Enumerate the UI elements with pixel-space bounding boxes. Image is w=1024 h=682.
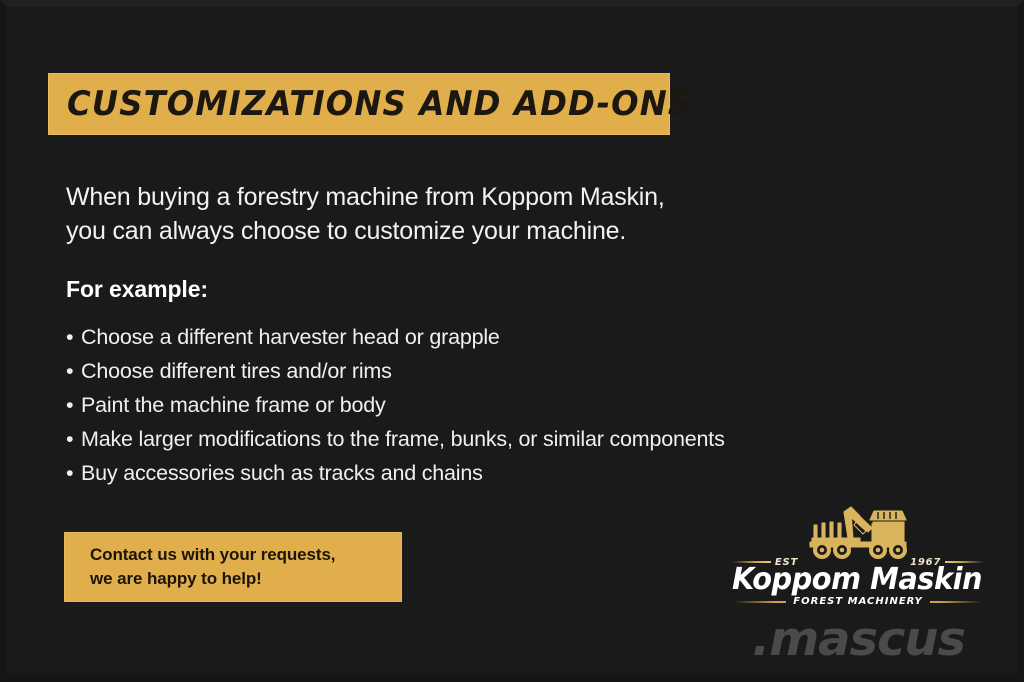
cta-line-2: we are happy to help!: [90, 567, 402, 591]
list-item: • Paint the machine frame or body: [66, 388, 806, 422]
bullet-marker-icon: •: [66, 320, 73, 354]
mascus-watermark: .mascus: [752, 612, 965, 667]
list-item: • Buy accessories such as tracks and cha…: [66, 456, 806, 490]
list-item-label: Choose different tires and/or rims: [81, 359, 392, 383]
for-example-heading: For example:: [66, 276, 208, 303]
promo-slide: CUSTOMIZATIONS AND ADD-ONS When buying a…: [0, 0, 1024, 682]
list-item: • Choose a different harvester head or g…: [66, 320, 806, 354]
list-item-label: Buy accessories such as tracks and chain…: [81, 461, 483, 485]
logo-wordmark: Koppom Maskin: [727, 562, 986, 597]
list-item-label: Make larger modifications to the frame, …: [81, 427, 725, 451]
feature-bullet-list: • Choose a different harvester head or g…: [66, 320, 806, 490]
page-title: CUSTOMIZATIONS AND ADD-ONS: [48, 84, 692, 124]
bullet-marker-icon: •: [66, 388, 73, 422]
title-banner: CUSTOMIZATIONS AND ADD-ONS: [48, 73, 670, 135]
koppom-maskin-logo: EST 1967 Koppom Maskin FOREST MACHINERY: [722, 498, 992, 610]
list-item: • Choose different tires and/or rims: [66, 354, 806, 388]
intro-line-2: you can always choose to customize your …: [66, 214, 766, 248]
list-item-label: Paint the machine frame or body: [81, 393, 386, 417]
logo-tagline-row: FOREST MACHINERY: [734, 596, 982, 607]
intro-line-1: When buying a forestry machine from Kopp…: [66, 180, 766, 214]
forwarder-machine-icon: [794, 498, 924, 560]
bullet-marker-icon: •: [66, 354, 73, 388]
bullet-marker-icon: •: [66, 456, 73, 490]
contact-cta-box[interactable]: Contact us with your requests, we are ha…: [64, 532, 402, 602]
logo-tagline-rule-left: [734, 601, 786, 603]
list-item-label: Choose a different harvester head or gra…: [81, 325, 500, 349]
list-item: • Make larger modifications to the frame…: [66, 422, 806, 456]
logo-tagline: FOREST MACHINERY: [793, 596, 922, 607]
logo-tagline-rule-right: [930, 601, 982, 603]
intro-paragraph: When buying a forestry machine from Kopp…: [66, 180, 766, 248]
cta-line-1: Contact us with your requests,: [90, 543, 402, 567]
bullet-marker-icon: •: [66, 422, 73, 456]
